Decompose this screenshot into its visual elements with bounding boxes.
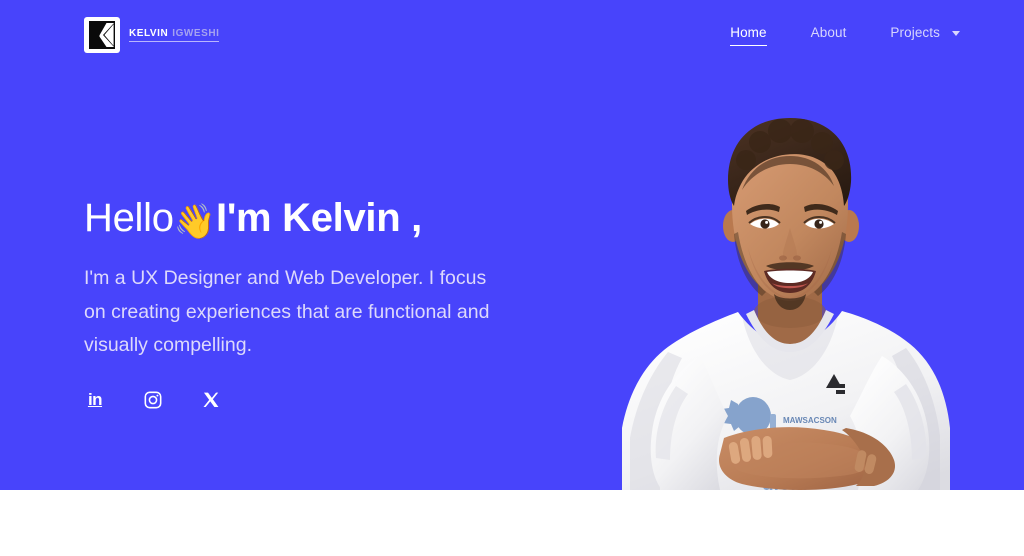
- brand-logo[interactable]: KELVIN IGWESHI: [84, 17, 219, 53]
- chevron-down-icon: [952, 31, 960, 36]
- nav-link-projects-label: Projects: [890, 25, 940, 45]
- k-monogram-logo-icon: [84, 17, 120, 53]
- nav-link-home[interactable]: Home: [730, 25, 766, 46]
- hero-subcopy: I'm a UX Designer and Web Developer. I f…: [84, 262, 504, 363]
- brand-wordmark: KELVIN IGWESHI: [129, 29, 219, 42]
- headline-greeting: Hello: [84, 196, 174, 240]
- linkedin-icon[interactable]: in: [84, 389, 106, 411]
- nav-links: Home About Projects: [730, 25, 960, 46]
- brand-last-name: IGWESHI: [172, 29, 219, 39]
- below-fold-section: [0, 490, 1024, 556]
- instagram-icon[interactable]: [142, 389, 164, 411]
- hero-section: KELVIN IGWESHI Home About Projects: [0, 0, 1024, 490]
- page-root: KELVIN IGWESHI Home About Projects: [0, 0, 1024, 556]
- linkedin-glyph: in: [88, 391, 102, 408]
- portrait-image: MAWSACSON diom: [620, 98, 1020, 490]
- hero-copy: Hello👋I'm Kelvin , I'm a UX Designer and…: [84, 196, 554, 411]
- page-title: Hello👋I'm Kelvin ,: [84, 196, 554, 241]
- social-links: in: [84, 389, 554, 411]
- x-twitter-icon[interactable]: [200, 389, 222, 411]
- brand-first-name: KELVIN: [129, 29, 168, 39]
- wave-emoji-icon: 👋: [174, 203, 216, 241]
- nav-link-about[interactable]: About: [811, 25, 847, 45]
- nav-link-projects[interactable]: Projects: [890, 25, 960, 45]
- navbar: KELVIN IGWESHI Home About Projects: [0, 0, 1024, 70]
- headline-intro: I'm Kelvin ,: [216, 196, 422, 240]
- shirt-print-text: MAWSACSON: [783, 416, 837, 425]
